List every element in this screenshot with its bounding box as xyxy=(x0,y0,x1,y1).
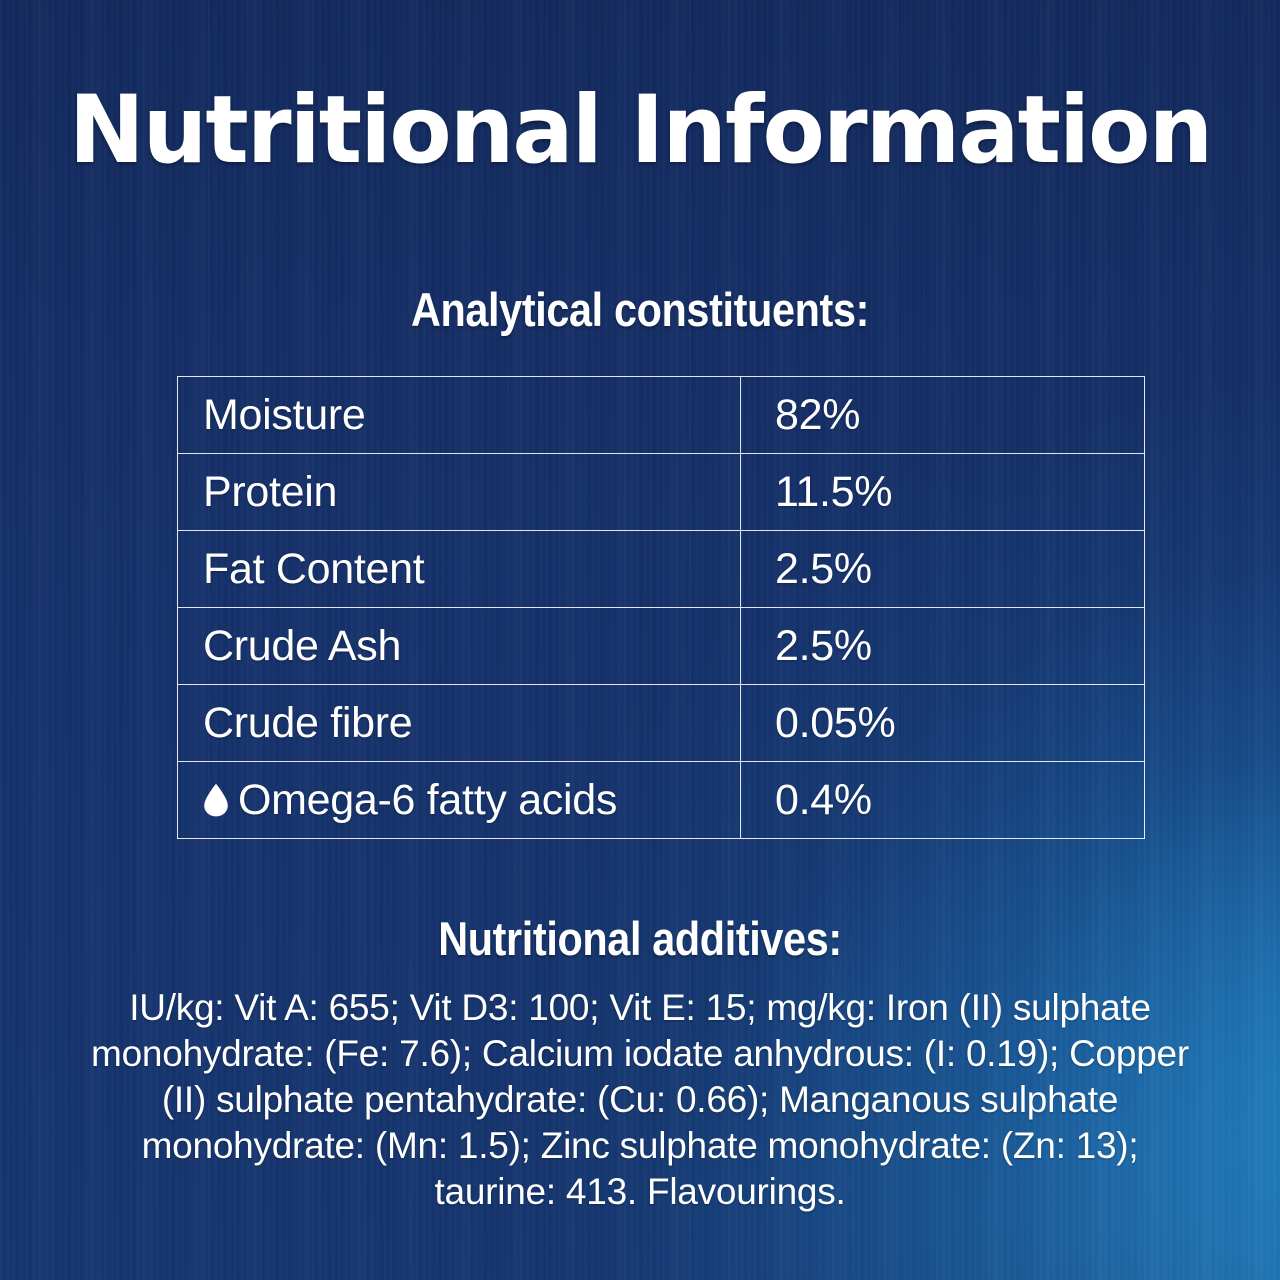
table-row: Crude fibre 0.05% xyxy=(178,685,1145,762)
table-cell-value: 2.5% xyxy=(741,531,1145,608)
table-cell-value: 0.4% xyxy=(741,762,1145,839)
nutritional-information-label: Nutritional Information Analytical const… xyxy=(0,0,1280,1280)
table-cell-name: Omega-6 fatty acids xyxy=(178,762,741,839)
table-cell-value: 0.05% xyxy=(741,685,1145,762)
table-cell-name: Crude fibre xyxy=(178,685,741,762)
constituent-label: Crude Ash xyxy=(203,622,401,671)
table-cell-value: 82% xyxy=(741,377,1145,454)
label-content: Nutritional Information Analytical const… xyxy=(0,0,1280,1280)
analytical-constituents-heading: Analytical constituents: xyxy=(77,286,1203,333)
page-title: Nutritional Information xyxy=(22,84,1257,178)
constituent-label: Protein xyxy=(203,468,337,517)
analytical-constituents-table: Moisture 82% Protein 11.5% xyxy=(177,376,1145,839)
constituent-label: Crude fibre xyxy=(203,699,412,748)
nutritional-additives-heading: Nutritional additives: xyxy=(77,915,1203,962)
table-cell-name: Protein xyxy=(178,454,741,531)
table-row: Crude Ash 2.5% xyxy=(178,608,1145,685)
nutritional-additives-text: IU/kg: Vit A: 655; Vit D3: 100; Vit E: 1… xyxy=(90,985,1190,1215)
table-cell-name: Moisture xyxy=(178,377,741,454)
table-row: Protein 11.5% xyxy=(178,454,1145,531)
table-cell-value: 2.5% xyxy=(741,608,1145,685)
table-cell-name: Fat Content xyxy=(178,531,741,608)
table-row: Omega-6 fatty acids 0.4% xyxy=(178,762,1145,839)
water-drop-icon xyxy=(203,783,229,817)
constituent-label: Omega-6 fatty acids xyxy=(238,776,617,825)
constituent-label: Fat Content xyxy=(203,545,424,594)
table-cell-name: Crude Ash xyxy=(178,608,741,685)
table-row: Fat Content 2.5% xyxy=(178,531,1145,608)
table-cell-value: 11.5% xyxy=(741,454,1145,531)
constituent-label: Moisture xyxy=(203,391,365,440)
table-row: Moisture 82% xyxy=(178,377,1145,454)
